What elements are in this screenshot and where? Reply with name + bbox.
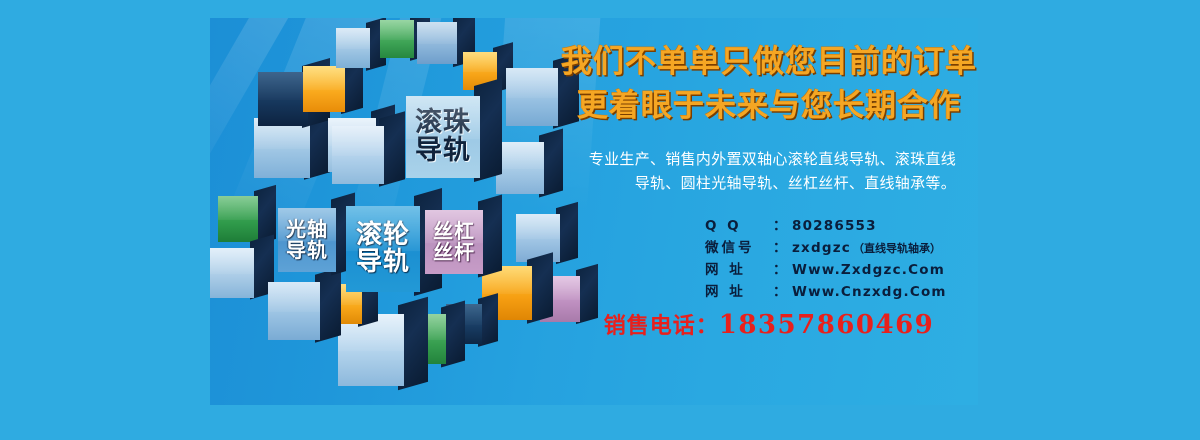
contact-row-wechat: 微信号 ： zxdgzc （直线导轨轴承）	[705, 238, 978, 260]
cube-label-leadscrew-line2: 丝杆	[433, 242, 475, 263]
sales-phone-number: 18357860469	[719, 310, 935, 340]
cube-orange-upper	[303, 66, 345, 112]
contact-note-wechat: （直线导轨轴承）	[853, 240, 941, 258]
cube-lightblue-bottom	[338, 314, 404, 386]
cube-navy-top-left	[258, 72, 308, 126]
contact-label-wechat: 微信号	[705, 238, 773, 260]
cube-label-leadscrew: 丝杠 丝杆	[425, 210, 483, 274]
contact-value-website-2[interactable]: Www.Cnzxdg.Com	[792, 282, 947, 304]
cube-label-ball-guide-line1: 滚珠	[415, 109, 471, 137]
contact-row-website-1: 网 址 ： Www.Zxdgzc.Com	[705, 260, 978, 282]
banner-copy-column: 我们不单单只做您目前的订单 更着眼于未来与您长期合作 专业生产、销售内外置双轴心…	[560, 18, 978, 405]
subcopy-paragraph: 专业生产、销售内外置双轴心滚轮直线导轨、滚珠直线导轨、圆柱光轴导轨、丝杠丝杆、直…	[588, 148, 956, 195]
cube-blue-right-lower	[516, 214, 560, 262]
cube-lightblue-lower-left	[210, 248, 254, 298]
contact-sep-website-2: ：	[773, 282, 787, 304]
contact-block: Q Q ： 80286553 微信号 ： zxdgzc （直线导轨轴承） 网 址…	[705, 216, 978, 303]
contact-sep-website-1: ：	[773, 260, 787, 282]
sales-phone: 销售电话：18357860469	[560, 308, 978, 340]
page-root: 滚珠 导轨 光轴 导轨 滚轮 导轨	[0, 0, 1200, 440]
headline: 我们不单单只做您目前的订单 更着眼于未来与您长期合作	[560, 40, 978, 128]
cube-label-shaft-guide: 光轴 导轨	[278, 208, 336, 272]
cube-blue-top	[336, 28, 370, 68]
cube-blue-bottom-left	[268, 282, 320, 340]
contact-value-wechat: zxdgzc	[792, 238, 851, 260]
headline-line-1: 我们不单单只做您目前的订单	[560, 40, 978, 84]
contact-label-website-1: 网 址	[705, 260, 773, 282]
cube-label-roller-guide-line1: 滚轮	[356, 222, 410, 249]
contact-label-website-2: 网 址	[705, 282, 773, 304]
cube-blue-inner-center	[332, 126, 384, 184]
cube-steelblue-top	[417, 22, 457, 64]
cube-label-roller-guide: 滚轮 导轨	[346, 206, 420, 292]
cube-green-left	[218, 196, 258, 242]
exploding-cubes-illustration: 滚珠 导轨 光轴 导轨 滚轮 导轨	[210, 18, 590, 405]
cube-label-ball-guide-line2: 导轨	[415, 137, 471, 165]
cube-green-top	[380, 20, 414, 58]
cube-label-ball-guide: 滚珠 导轨	[406, 96, 480, 178]
cube-label-shaft-guide-line2: 导轨	[286, 240, 328, 261]
headline-line-2: 更着眼于未来与您长期合作	[560, 84, 978, 128]
contact-sep-qq: ：	[773, 216, 787, 238]
cube-blue-right-upper	[506, 68, 558, 126]
cube-label-leadscrew-line1: 丝杠	[433, 221, 475, 242]
cube-label-shaft-guide-line1: 光轴	[286, 219, 328, 240]
promo-banner: 滚珠 导轨 光轴 导轨 滚轮 导轨	[210, 18, 978, 405]
contact-sep-wechat: ：	[773, 238, 787, 260]
cube-blue-right-mid	[496, 142, 544, 194]
contact-value-qq: 80286553	[792, 216, 877, 238]
contact-row-qq: Q Q ： 80286553	[705, 216, 978, 238]
contact-value-website-1[interactable]: Www.Zxdgzc.Com	[792, 260, 945, 282]
sales-phone-label: 销售电话：	[604, 314, 719, 339]
contact-label-qq: Q Q	[705, 216, 773, 238]
cube-label-roller-guide-line2: 导轨	[356, 249, 410, 276]
contact-row-website-2: 网 址 ： Www.Cnzxdg.Com	[705, 282, 978, 304]
